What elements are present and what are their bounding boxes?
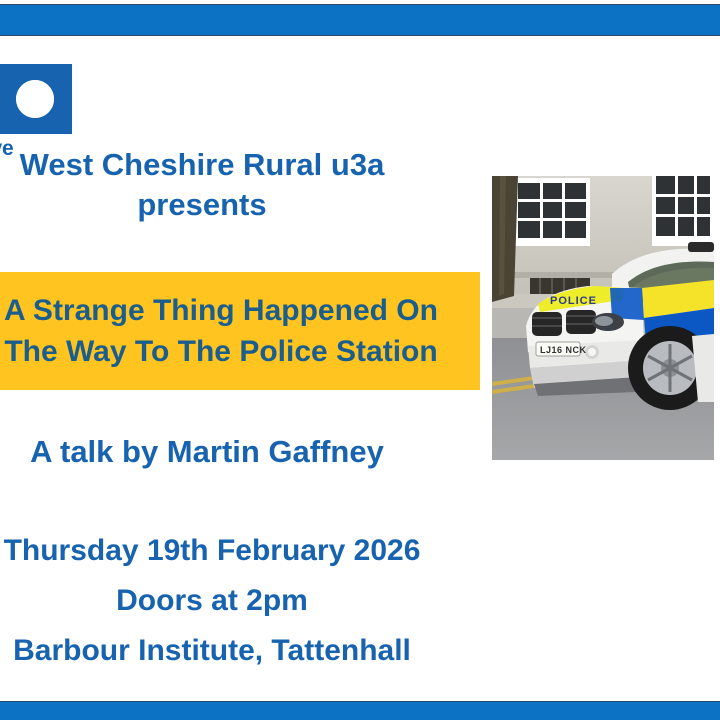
title-banner: A Strange Thing Happened On The Way To T… [0,272,480,390]
police-car-photo: POLICE [492,176,714,460]
speaker-line: A talk by Martin Gaffney [0,434,452,470]
police-car-illustration: POLICE [492,176,714,460]
event-details: Thursday 19th February 2026 Doors at 2pm… [0,526,462,675]
svg-text:POLICE: POLICE [550,295,597,307]
poster-body: , live West Cheshire Rural u3a presents … [0,36,714,702]
top-accent-hairline-upper [0,4,720,5]
licence-plate-text: LJ16 NCK [540,345,587,355]
title-line-2: The Way To The Police Station [4,331,437,372]
poster-screenshot: , live West Cheshire Rural u3a presents … [0,0,720,720]
building-window-left [514,178,590,246]
building-window-right [652,176,714,246]
bottom-accent-bar [0,702,720,720]
organisation-name: West Cheshire Rural u3a [0,146,442,184]
event-venue: Barbour Institute, Tattenhall [0,626,462,676]
title-line-1: A Strange Thing Happened On [4,290,438,331]
organisation-block: West Cheshire Rural u3a presents [0,146,442,224]
event-date: Thursday 19th February 2026 [0,526,462,576]
u3a-logo: , live [0,54,80,154]
presents-label: presents [0,186,442,224]
top-accent-bar [0,5,720,35]
event-time: Doors at 2pm [0,576,462,626]
